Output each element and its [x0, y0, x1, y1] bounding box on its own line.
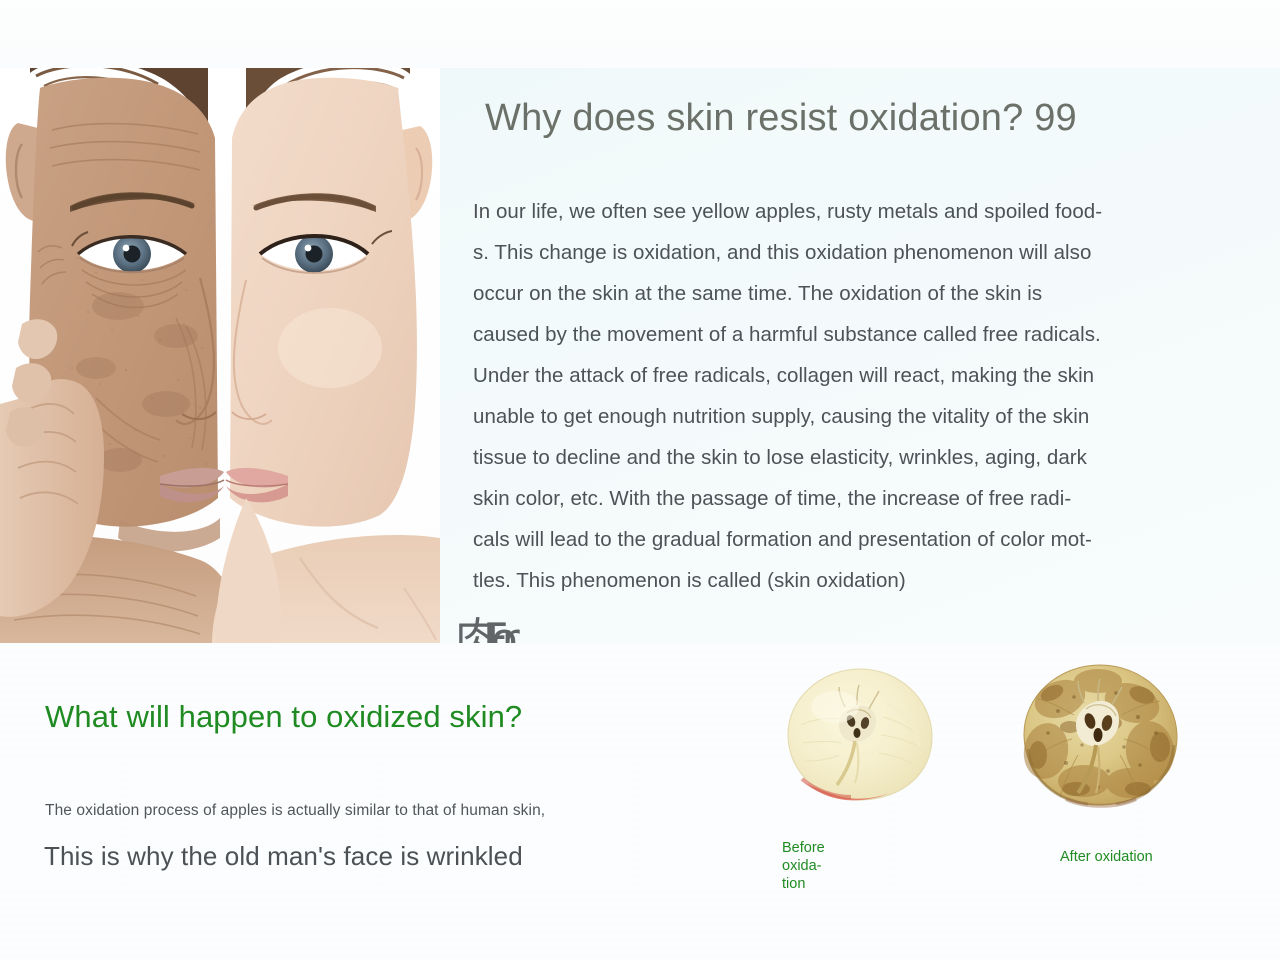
hero-body-text: In our life, we often see yellow apples,… [473, 191, 1263, 601]
subtitle-small: The oxidation process of apples is actua… [45, 802, 545, 820]
top-margin-strip [0, 0, 1280, 68]
hero-section: Why does skin resist oxidation? 99 In ou… [0, 68, 1280, 643]
apple-before-caption: Before oxida-tion [782, 839, 868, 893]
subtitle-large: This is why the old man's face is wrinkl… [44, 841, 523, 872]
infographic-page: Why does skin resist oxidation? 99 In ou… [0, 0, 1280, 960]
body-line: In our life, we often see yellow apples,… [473, 191, 1263, 232]
section-heading: What will happen to oxidized skin? [45, 699, 522, 735]
body-line: s. This change is oxidation, and this ox… [473, 232, 1263, 273]
skin-comparison-photo [0, 68, 440, 643]
page-title: Why does skin resist oxidation? 99 [485, 96, 1245, 142]
body-line: skin color, etc. With the passage of tim… [473, 478, 1263, 519]
apple-after-caption: After oxidation [1060, 848, 1220, 866]
body-line: unable to get enough nutrition supply, c… [473, 396, 1263, 437]
face-illustration [0, 68, 440, 643]
body-line: Under the attack of free radicals, colla… [473, 355, 1263, 396]
fresh-apple-image [775, 663, 945, 806]
hero-text-panel: Why does skin resist oxidation? 99 In ou… [440, 68, 1280, 643]
lower-section: What will happen to oxidized skin? The o… [0, 643, 1280, 960]
oxidized-apple-image [1012, 659, 1190, 811]
body-line: tissue to decline and the skin to lose e… [473, 437, 1263, 478]
body-line: caused by the movement of a harmful subs… [473, 314, 1263, 355]
fresh-apple-illustration [775, 663, 945, 806]
body-line: occur on the skin at the same time. The … [473, 273, 1263, 314]
body-line: cals will lead to the gradual formation … [473, 519, 1263, 560]
body-line: tles. This phenomenon is called (skin ox… [473, 560, 1263, 601]
oxidized-apple-illustration [1012, 659, 1190, 811]
